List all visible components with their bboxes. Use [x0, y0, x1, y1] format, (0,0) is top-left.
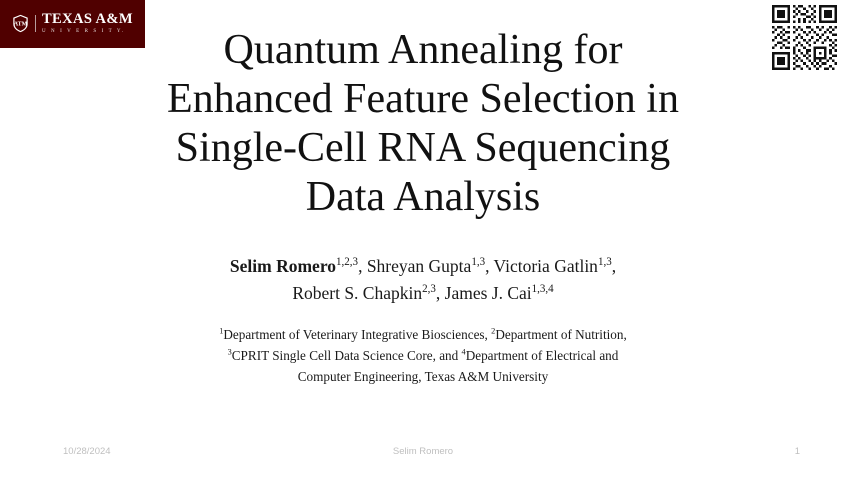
author-affiliation-marker: 1,2,3: [336, 256, 358, 268]
author-affiliation-marker: 1,3: [598, 256, 612, 268]
page-title: Quantum Annealing for Enhanced Feature S…: [72, 26, 774, 222]
title-line-3: Single-Cell RNA Sequencing: [72, 124, 774, 173]
brand-divider: [35, 15, 36, 32]
author-name-5: James J. Cai: [445, 283, 532, 303]
affiliation-line-2: 3CPRIT Single Cell Data Science Core, an…: [140, 345, 706, 366]
author-name-primary: Selim Romero: [230, 256, 336, 276]
author-affiliation-marker: 2,3: [422, 283, 436, 295]
footer-page-number: 1: [0, 446, 800, 457]
texas-am-shield-icon: ATM: [12, 14, 29, 33]
title-line-2: Enhanced Feature Selection in: [72, 75, 774, 124]
affiliation-line-3: Computer Engineering, Texas A&M Universi…: [140, 366, 706, 387]
author-separator-3: ,: [436, 283, 445, 303]
svg-text:ATM: ATM: [14, 21, 28, 27]
presentation-slide: ATM TEXAS A&M U N I V E R S I T Y.: [0, 0, 846, 477]
author-separator-1: ,: [358, 256, 367, 276]
brand-name: TEXAS A&M: [42, 12, 133, 27]
author-name-4: Robert S. Chapkin: [292, 283, 422, 303]
author-list: Selim Romero1,2,3, Shreyan Gupta1,3, Vic…: [60, 253, 786, 307]
qr-code-icon[interactable]: [772, 5, 837, 70]
slide-footer: 10/28/2024 Selim Romero 1: [0, 446, 846, 462]
author-line-2: Robert S. Chapkin2,3, James J. Cai1,3,4: [60, 280, 786, 307]
affiliation-text-2: Department of Nutrition,: [495, 327, 626, 342]
author-separator-2: ,: [485, 256, 493, 276]
author-name-2: Shreyan Gupta: [367, 256, 472, 276]
affiliation-line-1: 1Department of Veterinary Integrative Bi…: [140, 324, 706, 345]
affiliation-text-3: CPRIT Single Cell Data Science Core, and: [232, 348, 462, 363]
affiliation-list: 1Department of Veterinary Integrative Bi…: [140, 324, 706, 387]
affiliation-text-4: Department of Electrical and: [466, 348, 619, 363]
affiliation-text-5: Computer Engineering, Texas A&M Universi…: [298, 369, 548, 384]
title-line-4: Data Analysis: [72, 173, 774, 222]
author-line-trailing: ,: [612, 256, 616, 276]
title-line-1: Quantum Annealing for: [72, 26, 774, 75]
author-line-1: Selim Romero1,2,3, Shreyan Gupta1,3, Vic…: [60, 253, 786, 280]
author-name-3: Victoria Gatlin: [494, 256, 598, 276]
affiliation-text-1: Department of Veterinary Integrative Bio…: [223, 327, 491, 342]
author-affiliation-marker: 1,3: [471, 256, 485, 268]
author-affiliation-marker: 1,3,4: [532, 283, 554, 295]
